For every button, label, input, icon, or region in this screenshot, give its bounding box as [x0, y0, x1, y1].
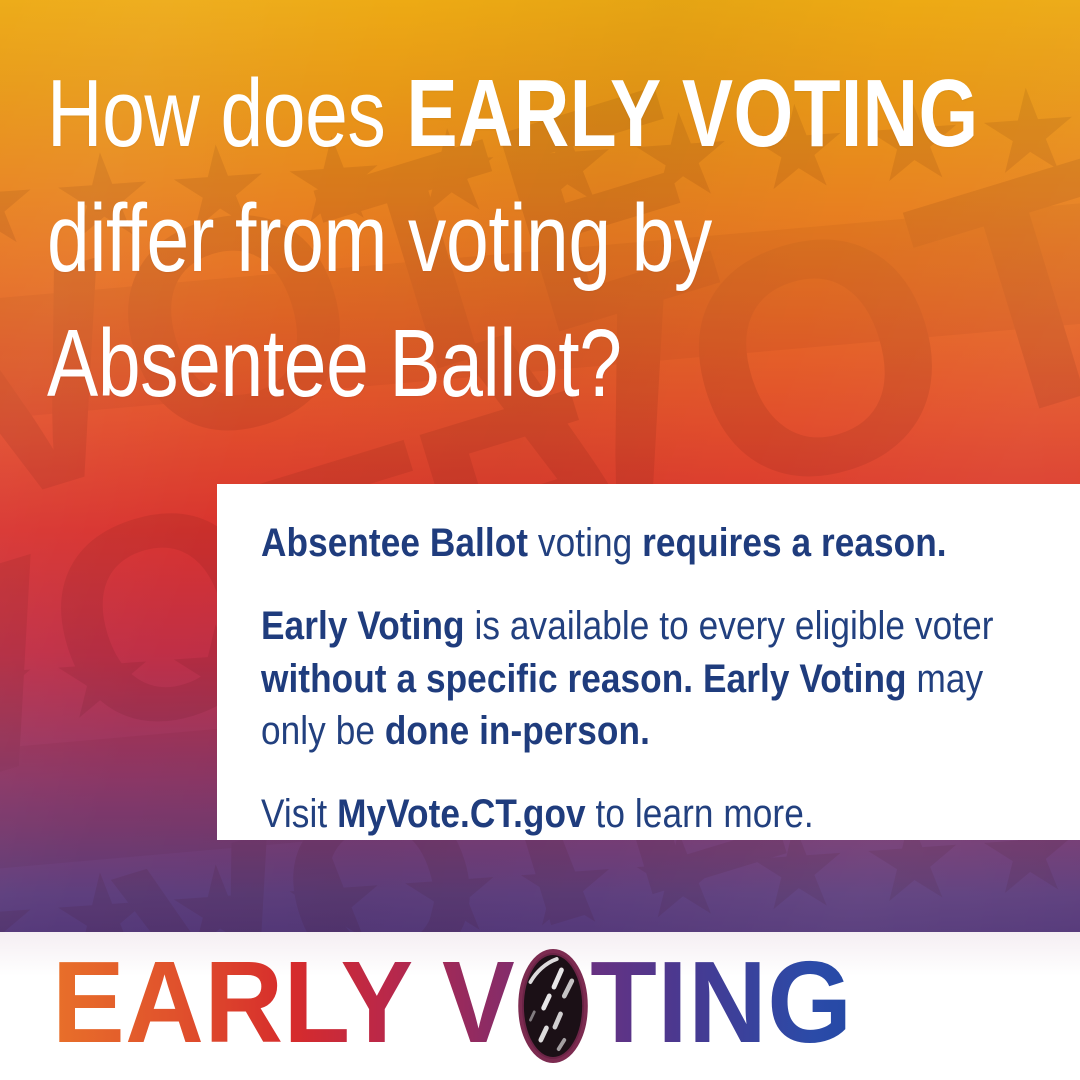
logo-word-early: EARLY [52, 937, 442, 1067]
star-icon [54, 869, 152, 932]
star-icon [54, 629, 152, 727]
headline-line-1-plain: How does [47, 60, 406, 167]
early-voting-logo-text: EARLYV TING [52, 944, 853, 1064]
absentee-rule-plain-1: voting [528, 521, 642, 565]
star-icon [633, 829, 731, 927]
star-icon [170, 861, 268, 932]
poster-canvas: VOTE VOTE VOTE VOTE VOTE How does EARLY … [0, 0, 1080, 1080]
star-icon [980, 84, 1078, 182]
absentee-ballot-term: Absentee Ballot [261, 521, 528, 565]
logo-word-voting-v: V [442, 937, 515, 1067]
star-icon [0, 157, 37, 255]
star-icon [401, 845, 499, 932]
star-icon [0, 637, 37, 735]
star-icon [517, 837, 615, 932]
myvote-link[interactable]: MyVote.CT.gov [337, 792, 586, 836]
paragraph-absentee-rule: Absentee Ballot voting requires a reason… [261, 517, 1030, 570]
without-reason-term: without a specific reason. Early Voting [261, 657, 907, 701]
star-icon [0, 877, 37, 932]
star-icon [285, 853, 383, 932]
early-voting-term-1: Early Voting [261, 604, 465, 648]
done-in-person-term: done in-person. [385, 709, 650, 753]
footer-band: EARLYV TING [0, 932, 1080, 1080]
headline: How does EARLY VOTING differ from voting… [47, 52, 847, 426]
headline-line-1: How does EARLY VOTING [47, 52, 847, 177]
info-card: Absentee Ballot voting requires a reason… [217, 484, 1080, 840]
early-voting-plain-1: is available to every eligible voter [465, 604, 994, 648]
learn-more-suffix: to learn more. [586, 792, 814, 836]
filled-ballot-bubble-icon [517, 948, 588, 1064]
headline-line-3: Absentee Ballot? [47, 302, 847, 427]
early-voting-logo: EARLYV TING [52, 950, 904, 1058]
requires-reason-term: requires a reason. [642, 521, 947, 565]
visit-label: Visit [261, 792, 337, 836]
headline-line-1-strong: EARLY VOTING [406, 60, 978, 167]
headline-line-2: differ from voting by [47, 177, 847, 302]
paragraph-early-voting-rule: Early Voting is available to every eligi… [261, 600, 1030, 758]
paragraph-learn-more: Visit MyVote.CT.gov to learn more. [261, 788, 1030, 841]
logo-word-voting-ting: TING [590, 937, 852, 1067]
